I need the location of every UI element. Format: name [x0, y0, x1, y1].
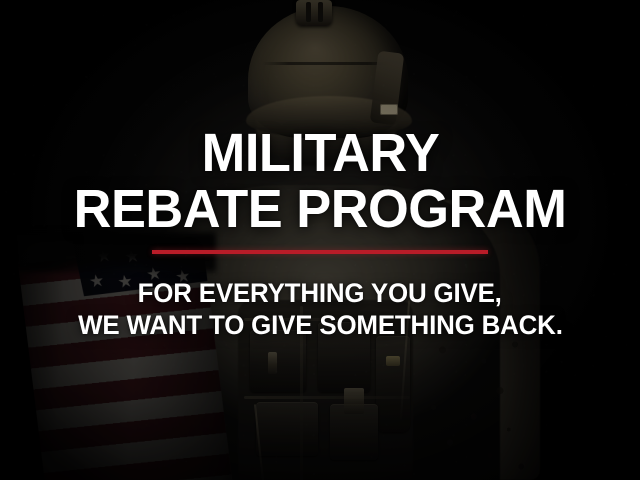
headline-line-2: REBATE PROGRAM	[74, 183, 567, 236]
subhead-line-1: FOR EVERYTHING YOU GIVE,	[138, 278, 502, 308]
headline-line-1: MILITARY	[201, 127, 439, 180]
subhead-line-2: WE WANT TO GIVE SOMETHING BACK.	[78, 310, 563, 340]
banner-content: MILITARY REBATE PROGRAM FOR EVERYTHING Y…	[0, 0, 640, 480]
military-rebate-program-banner: ★ ★ ★ ★ ★ ★ ★ ★ ★ ★ ★ ★ MILITARY REBATE …	[0, 0, 640, 480]
accent-divider	[152, 250, 488, 254]
